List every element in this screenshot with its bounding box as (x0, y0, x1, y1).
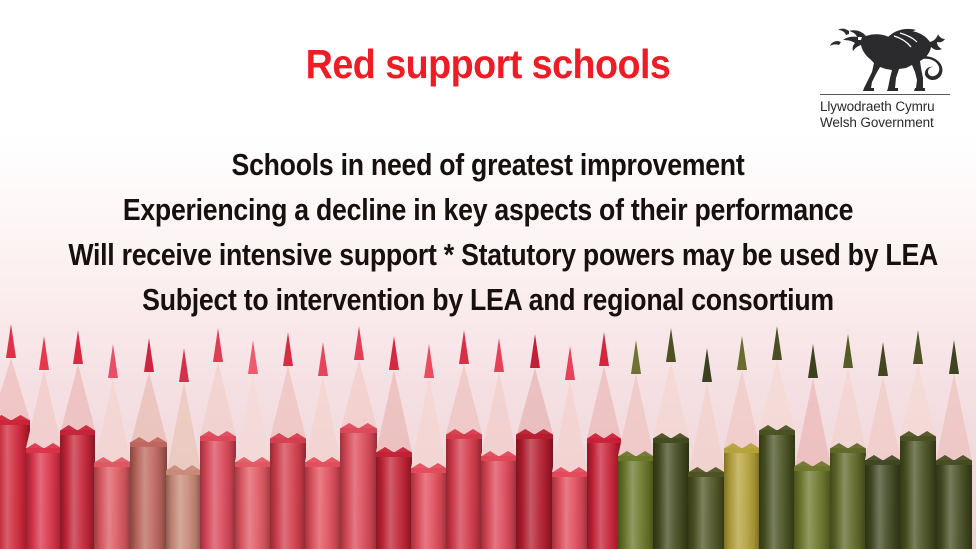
pencil (26, 336, 62, 549)
pencil-lead-tip (424, 344, 434, 378)
pencil (305, 342, 341, 549)
pencil (618, 340, 654, 549)
pencil-barrel (94, 462, 131, 549)
pencil (794, 344, 831, 549)
pencil (200, 328, 236, 549)
pencil-barrel (653, 438, 689, 549)
pencil (653, 328, 689, 549)
pencil-wood-cone (167, 382, 201, 470)
body-line-1: Schools in need of greatest improvement (68, 142, 907, 187)
pencil (865, 342, 901, 549)
pencil-barrel (270, 438, 306, 549)
logo-divider (820, 94, 950, 95)
pencil-barrel (516, 434, 553, 549)
pencil (830, 334, 866, 549)
pencil-wood-cone (341, 360, 377, 428)
pencil-barrel (587, 438, 621, 549)
poster-graphic: Red support schools Schools in need of g… (0, 0, 976, 549)
pencil-wood-cone (95, 378, 131, 462)
pencil (759, 326, 795, 549)
pencil-barrel (411, 468, 447, 549)
welsh-dragon-icon (822, 14, 954, 92)
pencil-wood-cone (376, 370, 412, 452)
pencil-barrel (865, 460, 901, 549)
pencil-row-image (0, 314, 976, 549)
pencil-wood-cone (517, 368, 553, 434)
pencil (446, 330, 482, 549)
pencil-wood-cone (795, 378, 831, 466)
pencil-lead-tip (213, 328, 223, 362)
pencil-wood-cone (900, 364, 936, 436)
pencil-lead-tip (39, 336, 49, 370)
pencil-barrel (130, 442, 167, 549)
pencil-barrel (376, 452, 412, 549)
pencil-wood-cone (936, 374, 972, 460)
pencil-wood-cone (724, 370, 760, 448)
pencil-lead-tip (494, 338, 504, 372)
pencil-barrel (26, 448, 62, 549)
pencil (411, 344, 447, 549)
pencil-wood-cone (26, 370, 62, 448)
body-line-3: Will receive intensive support * Statuto… (68, 232, 907, 277)
body-line-4: Subject to intervention by LEA and regio… (68, 277, 907, 322)
pencil-lead-tip (108, 344, 118, 378)
pencil (552, 346, 588, 549)
pencil (724, 336, 760, 549)
pencil-barrel (481, 456, 517, 549)
pencil-lead-tip (808, 344, 818, 378)
pencil-lead-tip (6, 324, 16, 358)
pencil-wood-cone (689, 382, 725, 472)
pencil-lead-tip (949, 340, 959, 374)
pencil (235, 340, 271, 549)
pencil-wood-cone (653, 362, 689, 438)
pencil-wood-cone (552, 380, 588, 472)
pencil-lead-tip (631, 340, 641, 374)
pencil (900, 330, 936, 549)
pencil-barrel (166, 470, 201, 549)
pencil-barrel (618, 456, 654, 549)
pencil-wood-cone (865, 376, 901, 460)
pencil (166, 348, 201, 549)
logo-text-english: Welsh Government (820, 115, 958, 131)
pencil-lead-tip (666, 328, 676, 362)
pencil-lead-tip (772, 326, 782, 360)
pencil-wood-cone (587, 366, 621, 438)
pencil-lead-tip (565, 346, 575, 380)
pencil-barrel (794, 466, 831, 549)
pencil (340, 326, 377, 549)
pencil-wood-cone (61, 364, 95, 430)
pencil-lead-tip (530, 334, 540, 368)
pencil-lead-tip (599, 332, 609, 366)
pencil-lead-tip (389, 336, 399, 370)
pencil (587, 332, 621, 549)
pencil (94, 344, 131, 549)
pencil-wood-cone (759, 360, 795, 430)
pencil-barrel (446, 434, 482, 549)
pencil-barrel (60, 430, 95, 549)
body-text-block: Schools in need of greatest improvement … (0, 142, 976, 322)
pencil-lead-tip (459, 330, 469, 364)
pencil-lead-tip (283, 332, 293, 366)
pencil-lead-tip (318, 342, 328, 376)
pencil-barrel (552, 472, 588, 549)
pencil-lead-tip (248, 340, 258, 374)
pencil-wood-cone (411, 378, 447, 468)
pencil-lead-tip (73, 330, 83, 364)
pencil (130, 338, 167, 549)
pencil-lead-tip (354, 326, 364, 360)
logo-text-welsh: Llywodraeth Cymru (820, 99, 958, 115)
pencil-wood-cone (270, 366, 306, 438)
pencil-wood-cone (131, 372, 167, 442)
pencil-barrel (305, 462, 341, 549)
pencil-wood-cone (618, 374, 654, 456)
pencil (270, 332, 306, 549)
pencil-barrel (688, 472, 725, 549)
pencil-wood-cone (830, 368, 866, 448)
body-line-2: Experiencing a decline in key aspects of… (68, 187, 907, 232)
pencil-lead-tip (702, 348, 712, 382)
welsh-government-logo: Llywodraeth Cymru Welsh Government (816, 14, 958, 131)
pencil-wood-cone (200, 362, 236, 436)
pencil-barrel (900, 436, 936, 549)
pencil-lead-tip (878, 342, 888, 376)
pencil-wood-cone (446, 364, 482, 434)
pencil-barrel (724, 448, 760, 549)
pencil-barrel (235, 462, 271, 549)
pencil-wood-cone (235, 374, 271, 462)
pencil (688, 348, 725, 549)
pencil-lead-tip (737, 336, 747, 370)
pencil-barrel (200, 436, 236, 549)
pencil (481, 338, 517, 549)
pencil-lead-tip (843, 334, 853, 368)
pencil (376, 336, 412, 549)
pencil-wood-cone (305, 376, 341, 462)
pencil-lead-tip (913, 330, 923, 364)
pencil (60, 330, 95, 549)
pencil (516, 334, 553, 549)
pencil-wood-cone (481, 372, 517, 456)
pencil-barrel (936, 460, 972, 549)
pencil (936, 340, 972, 549)
pencil-lead-tip (179, 348, 189, 382)
pencil-barrel (340, 428, 377, 549)
page-title: Red support schools (39, 44, 937, 85)
pencil-barrel (830, 448, 866, 549)
pencil-lead-tip (144, 338, 154, 372)
pencil-barrel (759, 430, 795, 549)
